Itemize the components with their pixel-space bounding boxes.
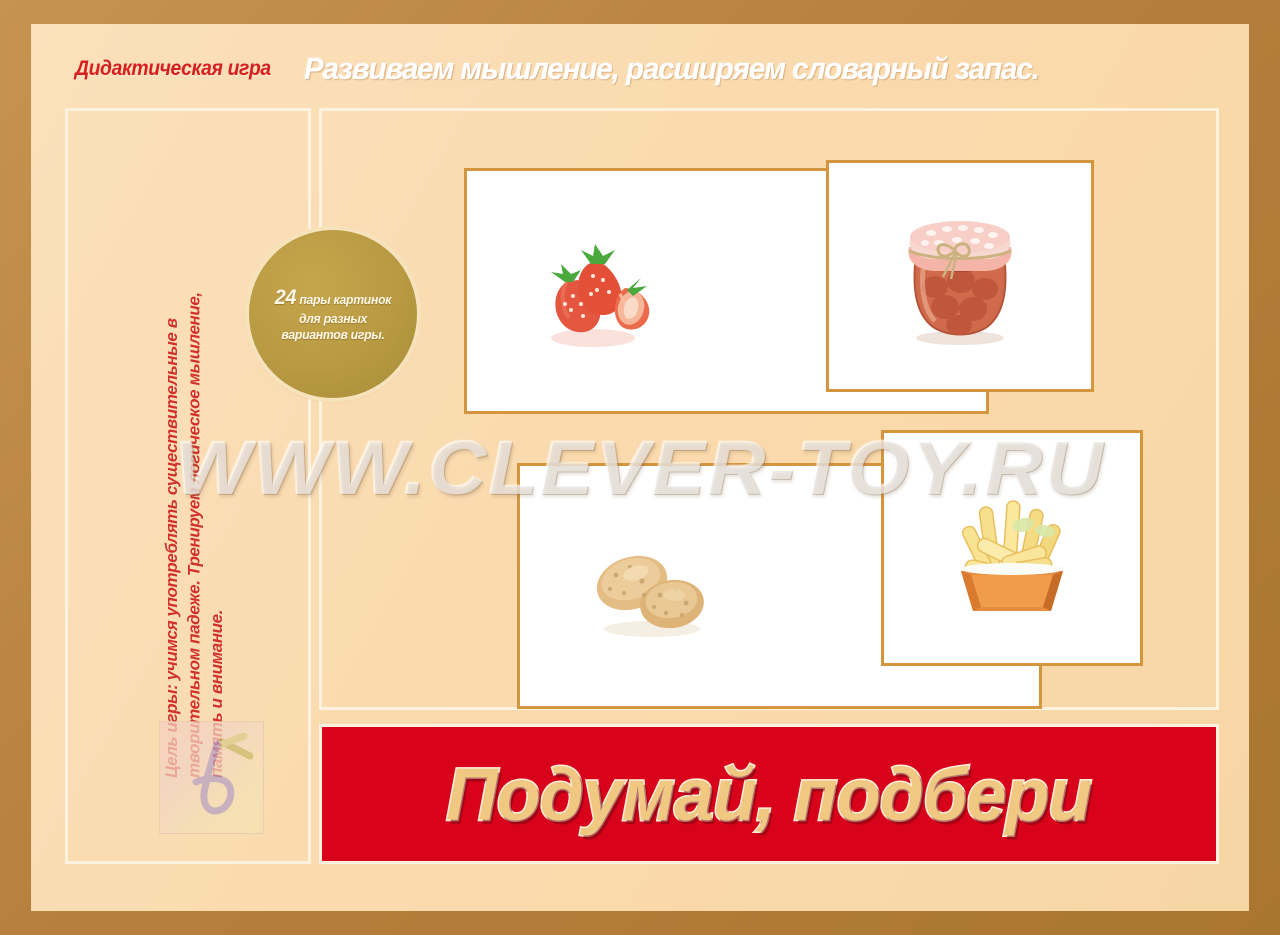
cards-area [319, 108, 1219, 710]
strawberries-icon [521, 216, 671, 366]
badge-label: 24 пары картинок для разных вариантов иг… [267, 285, 399, 342]
publisher-logo [159, 721, 264, 834]
card-strawberry-image-half [467, 216, 726, 366]
card-fries[interactable] [881, 430, 1143, 666]
pairs-count-badge: 24 пары картинок для разных вариантов иг… [249, 230, 417, 398]
card-jam[interactable] [826, 160, 1094, 392]
publisher-logo-mark [160, 722, 263, 833]
poster-header: Дидактическая игра Развиваем мышление, р… [75, 46, 1215, 92]
potatoes-icon [574, 511, 724, 661]
badge-count: 24 [275, 286, 296, 309]
badge-caption: пары картинок для разных вариантов игры. [281, 292, 391, 341]
card-potato-image-half [520, 511, 779, 661]
header-kicker: Дидактическая игра [75, 57, 271, 81]
french-fries-icon [927, 463, 1097, 633]
title-banner: Подумай, подбери [319, 724, 1219, 864]
poster-root: Дидактическая игра Развиваем мышление, р… [0, 0, 1280, 935]
poster-panel: Дидактическая игра Развиваем мышление, р… [31, 24, 1249, 911]
header-headline: Развиваем мышление, расширяем словарный … [304, 51, 1039, 87]
jam-jar-icon [875, 191, 1045, 361]
banner-title: Подумай, подбери [446, 752, 1091, 837]
